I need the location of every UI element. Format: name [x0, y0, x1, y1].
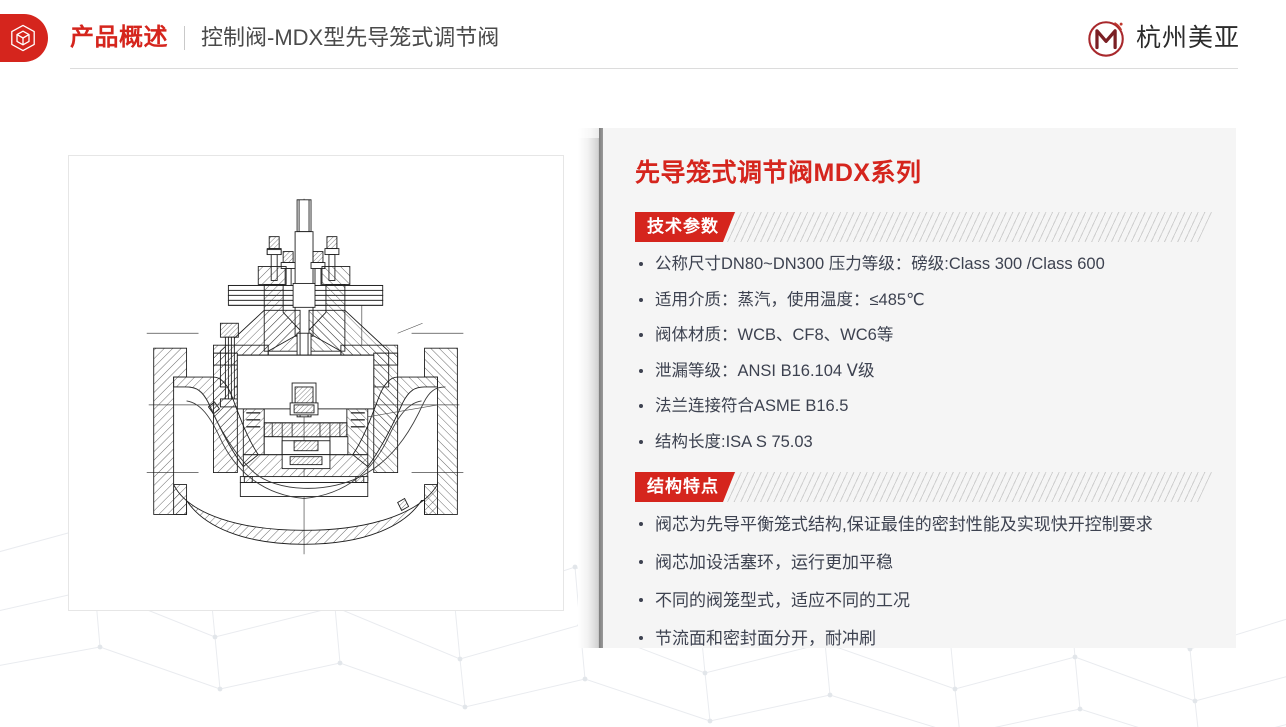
panel-page-fold: [578, 136, 600, 648]
content-panel: 先导笼式调节阀MDX系列 技术参数 公称尺寸DN80~DN300 压力等级：磅级…: [603, 128, 1236, 648]
list-item: 阀芯为先导平衡笼式结构,保证最佳的密封性能及实现快开控制要求: [635, 516, 1212, 533]
section-tag-label: 技术参数: [635, 212, 735, 242]
section-heading-tech-params: 技术参数: [635, 212, 1212, 242]
title-divider: [184, 26, 185, 50]
section-heading-structure-features: 结构特点: [635, 472, 1212, 502]
structure-features-list: 阀芯为先导平衡笼式结构,保证最佳的密封性能及实现快开控制要求 阀芯加设活塞环，运…: [635, 516, 1212, 647]
control-valve-cross-section-drawing: [69, 156, 563, 610]
cube-hexagon-icon: [10, 24, 36, 52]
brand-name: 杭州美亚: [1136, 26, 1240, 51]
list-item: 法兰连接符合ASME B16.5: [635, 398, 1212, 415]
list-item: 泄漏等级：ANSI B16.104 Ⅴ级: [635, 363, 1212, 380]
list-item: 不同的阀笼型式，适应不同的工况: [635, 592, 1212, 609]
tech-params-list: 公称尺寸DN80~DN300 压力等级：磅级:Class 300 /Class …: [635, 256, 1212, 450]
product-series-title: 先导笼式调节阀MDX系列: [635, 158, 1212, 188]
list-item: 节流面和密封面分开，耐冲刷: [635, 630, 1212, 647]
panel-page-fold-top: [578, 128, 600, 138]
slide-root: 产品概述 控制阀-MDX型先导笼式调节阀 杭州美亚: [0, 0, 1286, 727]
brand-logo: 杭州美亚: [1086, 16, 1240, 60]
valve-drawing-card: [68, 155, 564, 611]
meiya-m-logo-icon: [1086, 17, 1128, 59]
content-panel-wrapper: 先导笼式调节阀MDX系列 技术参数 公称尺寸DN80~DN300 压力等级：磅级…: [578, 128, 1236, 648]
page-subtitle: 控制阀-MDX型先导笼式调节阀: [201, 27, 499, 49]
list-item: 阀芯加设活塞环，运行更加平稳: [635, 554, 1212, 571]
page-title: 产品概述: [70, 26, 168, 50]
list-item: 适用介质：蒸汽，使用温度：≤485℃: [635, 292, 1212, 309]
page-header: 产品概述 控制阀-MDX型先导笼式调节阀 杭州美亚: [0, 0, 1286, 72]
list-item: 结构长度:ISA S 75.03: [635, 434, 1212, 451]
header-title-group: 产品概述 控制阀-MDX型先导笼式调节阀: [70, 18, 499, 58]
list-item: 公称尺寸DN80~DN300 压力等级：磅级:Class 300 /Class …: [635, 256, 1212, 273]
header-divider-rule: [70, 68, 1238, 69]
list-item: 阀体材质：WCB、CF8、WC6等: [635, 327, 1212, 344]
section-tag-label: 结构特点: [635, 472, 735, 502]
header-badge: [0, 14, 48, 62]
